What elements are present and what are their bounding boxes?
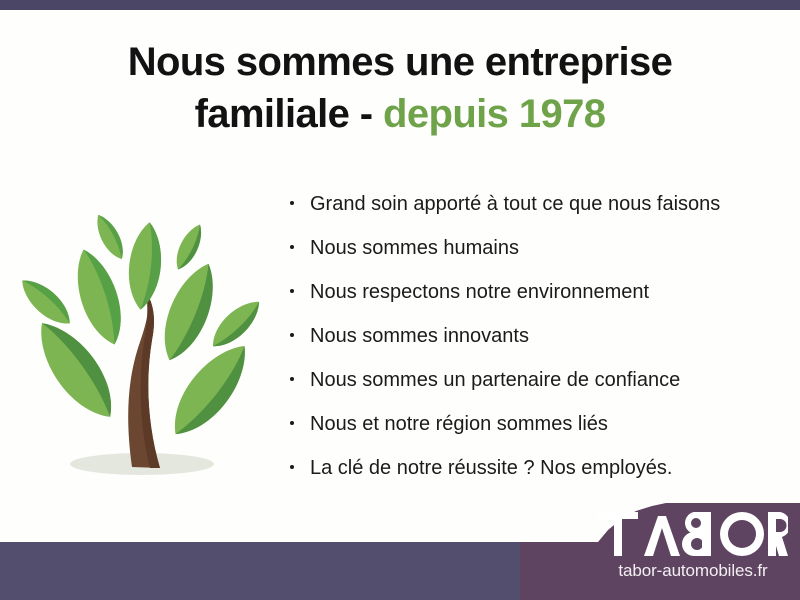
tree-illustration <box>14 192 272 492</box>
list-item-label: Nous respectons notre environnement <box>310 281 649 303</box>
list-item: Nous sommes un partenaire de confiance <box>286 368 786 392</box>
bullet-dot-icon <box>290 377 294 381</box>
slide-canvas: Nous sommes une entreprise familiale - d… <box>0 0 800 600</box>
list-item: La clé de notre réussite ? Nos employés. <box>286 456 786 480</box>
list-item-label: Grand soin apporté à tout ce que nous fa… <box>310 193 720 215</box>
top-accent-band <box>0 0 800 10</box>
list-item-label: Nous et notre région sommes liés <box>310 413 608 435</box>
bullet-dot-icon <box>290 245 294 249</box>
leaf-far-right <box>205 293 267 354</box>
title-line-1: Nous sommes une entreprise <box>128 40 673 84</box>
bullet-dot-icon <box>290 333 294 337</box>
list-item-label: La clé de notre réussite ? Nos employés. <box>310 457 672 479</box>
list-item: Nous et notre région sommes liés <box>286 412 786 436</box>
title-line-2: familiale - depuis 1978 <box>60 88 740 140</box>
list-item: Nous sommes innovants <box>286 324 786 348</box>
leaf-top-small-left <box>91 211 130 263</box>
leaf-far-left <box>14 272 77 332</box>
leaf-top-center <box>125 221 166 312</box>
value-bullet-list: Grand soin apporté à tout ce que nous fa… <box>286 192 786 480</box>
bullet-dot-icon <box>290 289 294 293</box>
list-item: Grand soin apporté à tout ce que nous fa… <box>286 192 786 216</box>
title-accent-since-1978: depuis 1978 <box>383 92 605 136</box>
bullet-dot-icon <box>290 421 294 425</box>
logo-website-url: tabor-automobiles.fr <box>598 561 788 581</box>
list-item: Nous sommes humains <box>286 236 786 260</box>
leaf-top-small-right <box>170 221 207 274</box>
bullet-dot-icon <box>290 465 294 469</box>
list-item-label: Nous sommes humains <box>310 237 519 259</box>
list-item-label: Nous sommes innovants <box>310 325 529 347</box>
list-item-label: Nous sommes un partenaire de confiance <box>310 369 680 391</box>
title-line-2-plain: familiale - <box>195 92 383 136</box>
tabor-logo-wordmark <box>598 512 788 556</box>
page-title: Nous sommes une entreprise familiale - d… <box>60 36 740 140</box>
leaf-upper-right <box>152 257 226 367</box>
bullet-dot-icon <box>290 201 294 205</box>
leaf-upper-left <box>66 244 131 350</box>
list-item: Nous respectons notre environnement <box>286 280 786 304</box>
